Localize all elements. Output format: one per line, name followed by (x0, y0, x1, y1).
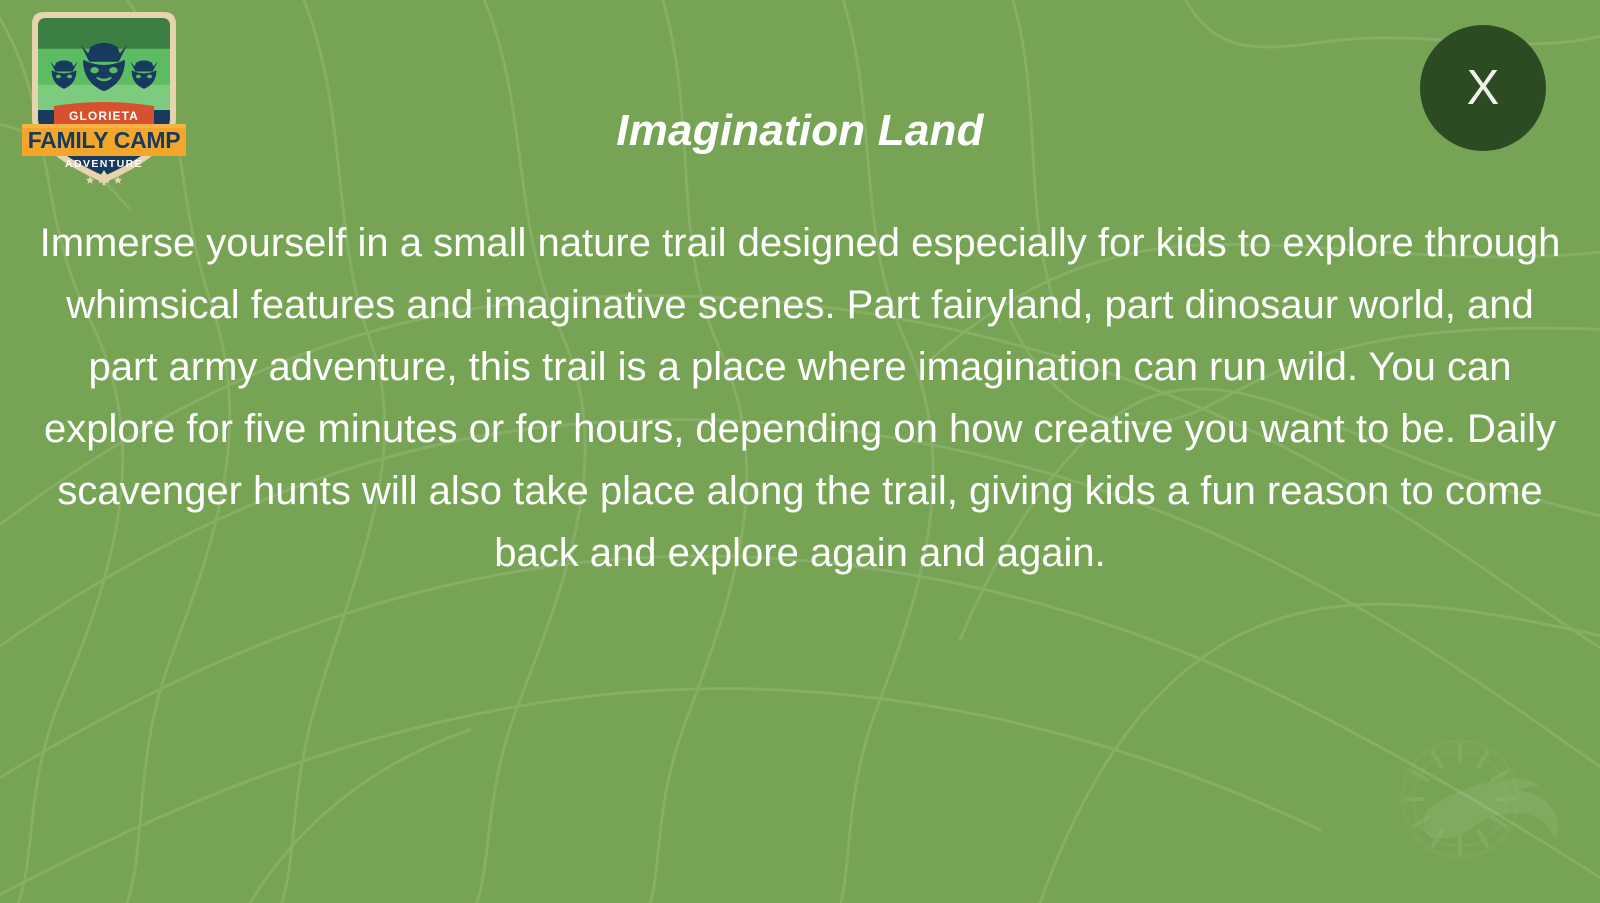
description-text: Immerse yourself in a small nature trail… (32, 212, 1568, 584)
badge-bottom-text: ADVENTURE (65, 158, 143, 170)
glorieta-family-camp-logo: GLORIETA FAMILY CAMP ADVENTURE (14, 6, 194, 186)
page-title: Imagination Land (0, 106, 1600, 156)
close-icon: X (1467, 64, 1500, 113)
eagle-compass-watermark (1388, 719, 1588, 879)
close-button[interactable]: X (1420, 25, 1546, 151)
